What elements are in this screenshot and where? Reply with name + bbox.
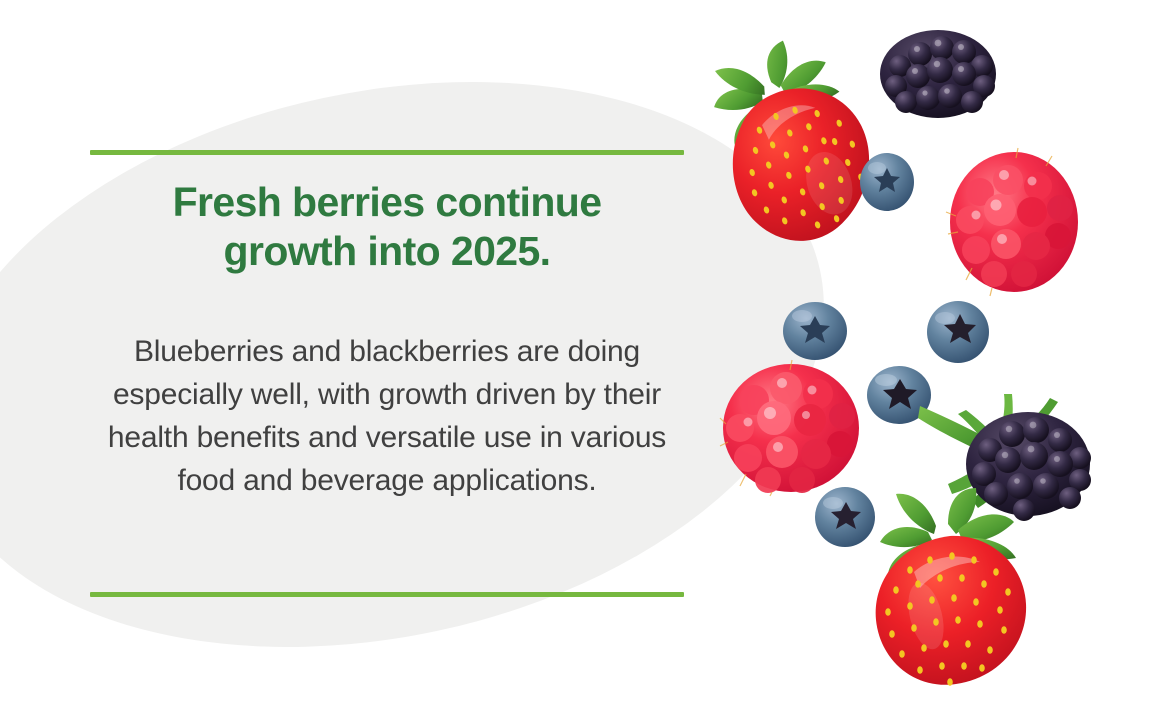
bottom-divider-rule	[90, 592, 684, 597]
body-paragraph: Blueberries and blackberries are doing e…	[98, 330, 676, 502]
headline-line-1: Fresh berries continue	[90, 178, 684, 227]
headline-line-2: growth into 2025.	[90, 227, 684, 276]
raspberry-upper-right	[946, 146, 1082, 296]
infographic-canvas: Fresh berries continue growth into 2025.…	[0, 0, 1152, 726]
strawberry-bottom	[862, 488, 1038, 694]
page-title: Fresh berries continue growth into 2025.	[90, 178, 684, 276]
raspberry-lower-left	[720, 360, 862, 496]
strawberry-top-left	[706, 42, 886, 252]
text-block: Fresh berries continue growth into 2025.…	[90, 178, 684, 502]
blueberry-mid-left	[782, 300, 848, 362]
blackberry-top-right	[874, 18, 1002, 122]
blueberry-beside-strawberry	[858, 150, 916, 212]
top-divider-rule	[90, 150, 684, 155]
blueberry-mid-right	[926, 300, 990, 364]
